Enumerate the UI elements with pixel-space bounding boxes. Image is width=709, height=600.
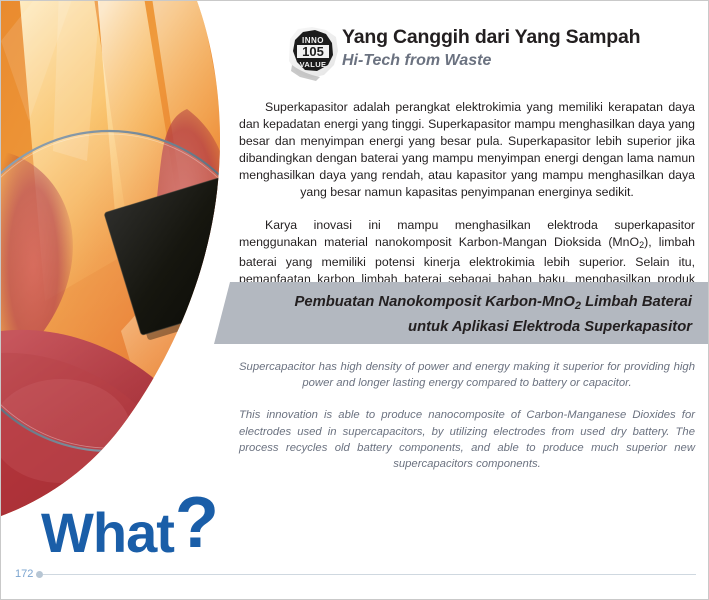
- artwork-image: [1, 1, 251, 521]
- artwork-panel: [1, 1, 251, 521]
- section-label-word: What: [41, 505, 174, 561]
- header-texts: Yang Canggih dari Yang Sampah Hi-Tech fr…: [342, 25, 640, 71]
- page-title: Yang Canggih dari Yang Sampah: [342, 25, 640, 49]
- header: INNO 105 VALUE Yang Canggih dari Yang Sa…: [286, 23, 696, 85]
- page-root: INNO 105 VALUE Yang Canggih dari Yang Sa…: [0, 0, 709, 600]
- english-text-column: Supercapacitor has high density of power…: [239, 359, 695, 472]
- english-paragraph-1: Supercapacitor has high density of power…: [239, 359, 695, 391]
- english-paragraph-2: This innovation is able to produce nanoc…: [239, 407, 695, 472]
- inno-105-value-badge-icon: INNO 105 VALUE: [286, 25, 342, 81]
- body-paragraph-2-pre: Karya inovasi ini mampu menghasilkan ele…: [239, 218, 695, 249]
- body-text-column: Superkapasitor adalah perangkat elektrok…: [239, 99, 695, 305]
- svg-text:VALUE: VALUE: [300, 60, 327, 69]
- page-number: 172: [15, 568, 33, 580]
- innovation-title-pre: Pembuatan Nanokomposit Karbon-MnO: [295, 294, 575, 310]
- innovation-title: Pembuatan Nanokomposit Karbon-MnO2 Limba…: [252, 292, 692, 338]
- footer-dot-icon: [36, 571, 43, 578]
- section-label-what: What ?: [41, 505, 219, 561]
- footer: 172: [15, 567, 696, 581]
- page-subtitle: Hi-Tech from Waste: [342, 51, 640, 71]
- svg-text:105: 105: [302, 44, 324, 59]
- question-mark-icon: ?: [175, 495, 219, 551]
- innovation-title-band: Pembuatan Nanokomposit Karbon-MnO2 Limba…: [206, 282, 709, 344]
- footer-rule: [43, 574, 696, 575]
- supercapacitor-electrode-photo-icon: [1, 1, 251, 521]
- body-paragraph-1: Superkapasitor adalah perangkat elektrok…: [239, 99, 695, 202]
